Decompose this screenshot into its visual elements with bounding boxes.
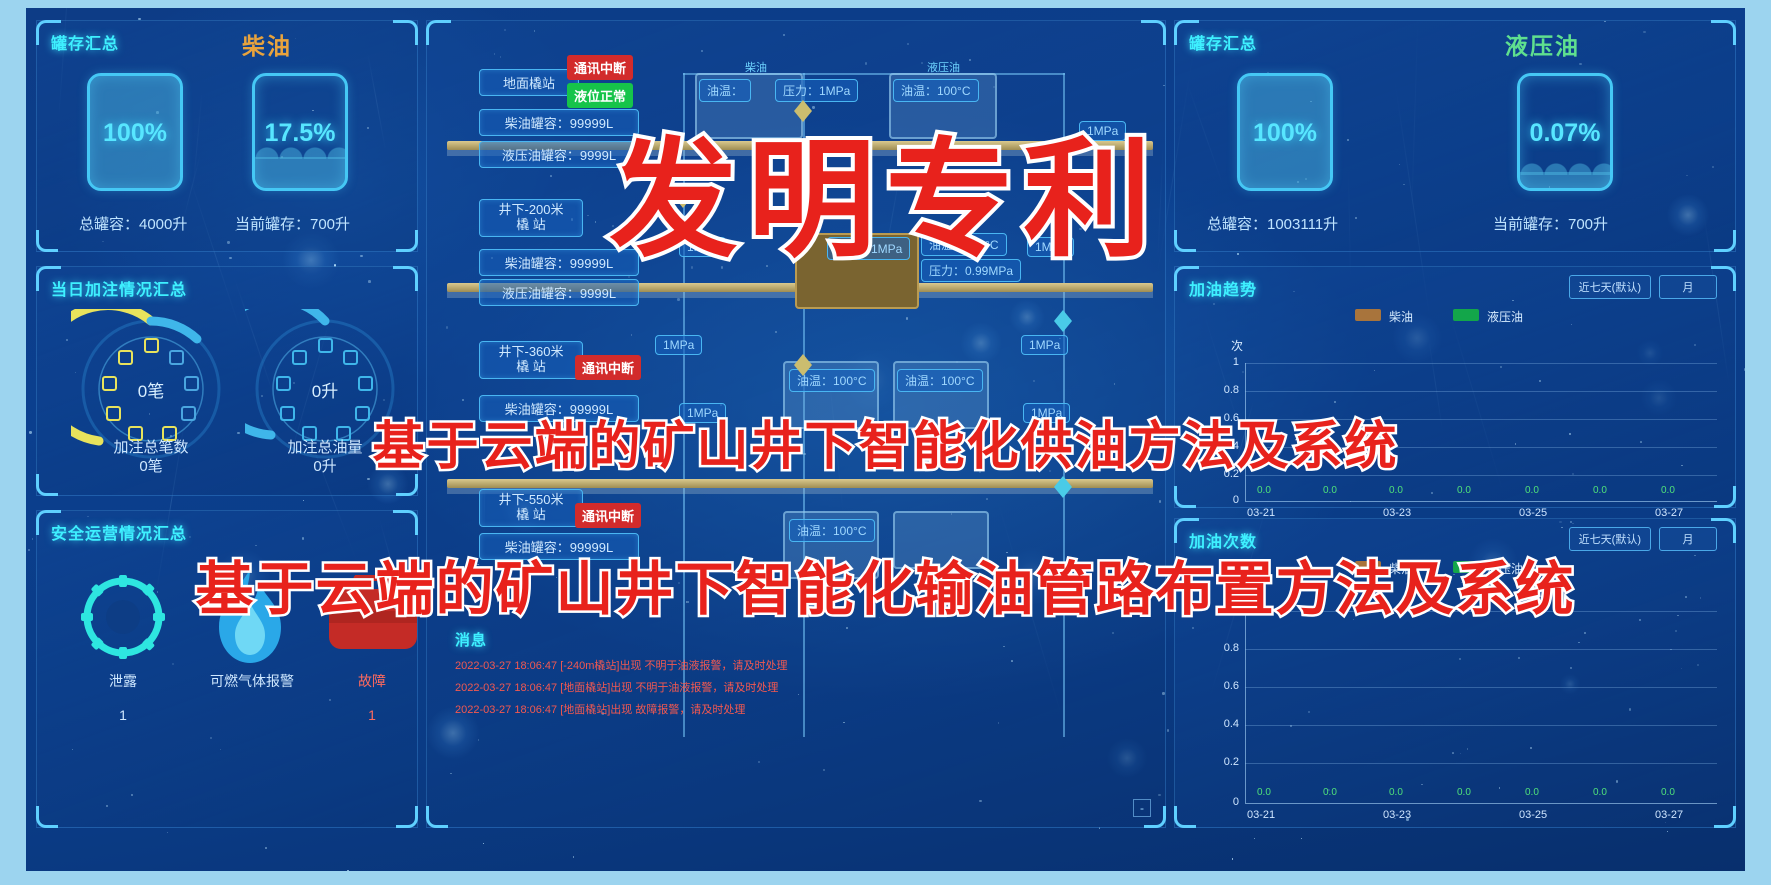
chart-xtick: 03-21	[1247, 809, 1275, 821]
chart-y-unit: 次	[1231, 337, 1243, 354]
legend-label-hydraulic: 液压油	[1487, 308, 1523, 325]
panel-title: 罐存汇总	[51, 30, 119, 54]
chart-title: 加油趋势	[1189, 276, 1257, 300]
chart-gridline	[1245, 763, 1717, 764]
safety-value-leak: 1	[75, 707, 171, 723]
oil-kind-label: 柴油	[242, 27, 292, 61]
message-line-3: 2022-03-27 18:06:47 [地面橇站]出现 故障报警，请及时处理	[455, 701, 745, 717]
chart-datalabel: 0.0	[1257, 787, 1271, 798]
station-comm-badge-surface: 通讯中断	[567, 55, 633, 80]
chart-range-button-month[interactable]: 月	[1659, 275, 1717, 299]
tank-current-value: 17.5%	[255, 119, 345, 148]
chart-datalabel: 0.0	[1257, 485, 1271, 496]
station-200m-line1: 井下-200米	[498, 202, 563, 217]
pressure-chip-b2: 1MPa	[1021, 335, 1068, 355]
station-name-surface[interactable]: 地面橇站	[479, 69, 579, 96]
equip-temp-chip-4: 油温：100°C	[897, 369, 983, 392]
chart-y-axis	[1245, 611, 1246, 803]
chart-datalabel: 0.0	[1457, 485, 1471, 496]
chart-datalabel: 0.0	[1323, 787, 1337, 798]
watermark-patent-title: 发明专利	[609, 96, 1161, 281]
chart-gridline	[1245, 363, 1717, 364]
tank-total-value: 100%	[1240, 119, 1330, 148]
station-comm-badge-550m: 通讯中断	[575, 503, 641, 528]
panel-left-daily-refuel: 当日加注情况汇总 0笔	[36, 266, 418, 496]
station-360m-line1: 井下-360米	[498, 344, 563, 359]
station-360m-line2: 橇 站	[516, 359, 546, 374]
refuel-count-caption-label: 加注总笔数	[71, 439, 231, 458]
station-hydraulic-capacity-200m: 液压油罐容：9999L	[479, 279, 639, 306]
chart-datalabel: 0.0	[1661, 787, 1675, 798]
station-comm-badge-360m: 通讯中断	[575, 355, 641, 380]
station-550m-line1: 井下-550米	[498, 492, 563, 507]
chart-ytick: 1	[1209, 356, 1239, 368]
panel-title: 安全运营情况汇总	[51, 520, 187, 544]
chart-datalabel: 0.0	[1525, 787, 1539, 798]
chart-xtick: 03-27	[1655, 809, 1683, 821]
panel-title: 当日加注情况汇总	[51, 276, 187, 300]
oil-kind-label: 液压油	[1505, 27, 1580, 61]
tank-total-caption: 总罐容：1003111升	[1207, 213, 1338, 234]
station-name-550m[interactable]: 井下-550米 橇 站	[479, 489, 583, 527]
tank-current-gauge: 17.5%	[252, 73, 348, 191]
chart-ytick: 0.8	[1205, 384, 1239, 396]
chart-gridline	[1245, 391, 1717, 392]
panel-title: 罐存汇总	[1189, 30, 1257, 54]
messages-title: 消息	[455, 629, 487, 650]
legend-swatch-diesel	[1355, 309, 1381, 321]
tank-total-caption: 总罐容：4000升	[79, 213, 187, 234]
panel-right-tank-summary: 罐存汇总 液压油 100% 0.07% 总罐容：1003111升 当前罐存：70…	[1174, 20, 1736, 252]
station-200m-line2: 橇 站	[516, 217, 546, 232]
pressure-chip-b1: 1MPa	[655, 335, 702, 355]
safety-label-fault: 故障	[319, 671, 425, 691]
chart-ytick: 0.8	[1205, 642, 1239, 654]
chart-ytick: 0.6	[1205, 680, 1239, 692]
message-line-1: 2022-03-27 18:06:47 [-240m橇站]出现 不明于油液报警，…	[455, 657, 788, 673]
tank-current-gauge: 0.07%	[1517, 73, 1613, 191]
chart-x-axis	[1245, 803, 1717, 804]
chart-gridline	[1245, 725, 1717, 726]
refuel-count-caption-value: 0笔	[71, 458, 231, 477]
legend-label-diesel: 柴油	[1389, 308, 1413, 325]
tank-total-gauge: 100%	[87, 73, 183, 191]
chart-range-button-month[interactable]: 月	[1659, 527, 1717, 551]
chart-range-button-week[interactable]: 近七天(默认)	[1569, 527, 1651, 551]
station-name-360m[interactable]: 井下-360米 橇 站	[479, 341, 583, 379]
chart-range-button-week[interactable]: 近七天(默认)	[1569, 275, 1651, 299]
outer-frame: 罐存汇总 柴油 100% 17.5% 总罐容：4000升 当前罐存：700升 当…	[0, 0, 1771, 885]
tank-current-value: 0.07%	[1520, 119, 1610, 148]
message-line-2: 2022-03-27 18:06:47 [地面橇站]出现 不明于油液报警，请及时…	[455, 679, 778, 695]
chart-datalabel: 0.0	[1457, 787, 1471, 798]
legend-swatch-hydraulic	[1453, 309, 1479, 321]
chart-ytick: 0	[1209, 796, 1239, 808]
chart-xtick: 03-25	[1519, 809, 1547, 821]
tank-total-value: 100%	[90, 119, 180, 148]
tank-current-caption: 当前罐存：700升	[235, 213, 350, 234]
equip-temp-chip-5: 油温：100°C	[789, 519, 875, 542]
watermark-invention-1: 基于云端的矿山井下智能化供油方法及系统	[372, 404, 1398, 479]
gear-icon	[75, 569, 171, 670]
chart-datalabel: 0.0	[1661, 485, 1675, 496]
ground-pipe-3	[447, 479, 1153, 488]
chart-datalabel: 0.0	[1389, 787, 1403, 798]
chart-datalabel: 0.0	[1323, 485, 1337, 496]
safety-label-leak: 泄露	[75, 671, 171, 691]
chart-datalabel: 0.0	[1593, 485, 1607, 496]
tank-current-caption: 当前罐存：700升	[1493, 213, 1608, 234]
chart-datalabel: 0.0	[1593, 787, 1607, 798]
watermark-invention-2: 基于云端的矿山井下智能化输油管路布置方法及系统	[195, 542, 1575, 626]
chart-datalabel: 0.0	[1525, 485, 1539, 496]
tank-total-gauge: 100%	[1237, 73, 1333, 191]
panel-left-tank-summary: 罐存汇总 柴油 100% 17.5% 总罐容：4000升 当前罐存：700升	[36, 20, 418, 252]
station-name-200m[interactable]: 井下-200米 橇 站	[479, 199, 583, 237]
minimize-button[interactable]: -	[1133, 799, 1151, 817]
station-550m-line2: 橇 站	[516, 507, 546, 522]
chart-x-axis	[1245, 501, 1717, 502]
safety-value-fault: 1	[319, 707, 425, 723]
chart-ytick: 0	[1209, 494, 1239, 506]
chart-ytick: 0.4	[1205, 718, 1239, 730]
dashboard-screen: 罐存汇总 柴油 100% 17.5% 总罐容：4000升 当前罐存：700升 当…	[26, 8, 1745, 871]
chart-gridline	[1245, 649, 1717, 650]
safety-label-gas-alarm: 可燃气体报警	[187, 671, 317, 691]
chart-xtick: 03-23	[1383, 809, 1411, 821]
chart-datalabel: 0.0	[1389, 485, 1403, 496]
chart-ytick: 0.2	[1205, 756, 1239, 768]
chart-gridline	[1245, 687, 1717, 688]
